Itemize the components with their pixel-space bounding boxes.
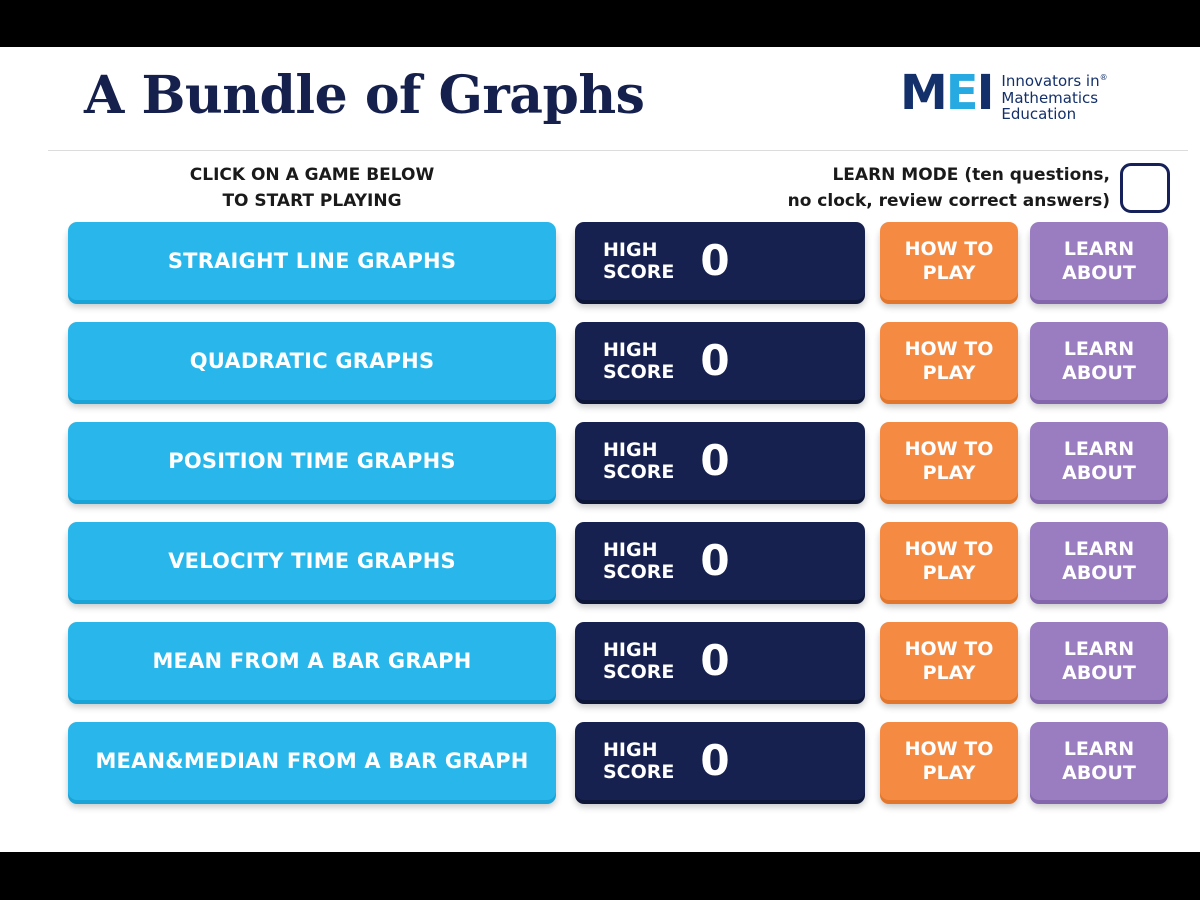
mei-logo-mark: M E I xyxy=(900,69,992,117)
high-score-label-line-1: HIGH xyxy=(603,639,674,661)
page-title: A Bundle of Graphs xyxy=(84,65,644,126)
high-score-label: HIGH SCORE xyxy=(603,239,674,283)
high-score-value: 0 xyxy=(700,340,729,382)
high-score-label-line-1: HIGH xyxy=(603,439,674,461)
game-row: QUADRATIC GRAPHS HIGH SCORE 0 HOW TO PLA… xyxy=(0,315,1200,415)
how-to-play-button[interactable]: HOW TO PLAY xyxy=(880,222,1018,300)
high-score-label-line-2: SCORE xyxy=(603,761,674,783)
mei-logo: M E I Innovators in® Mathematics Educati… xyxy=(900,69,1108,123)
learn-about-button[interactable]: LEARN ABOUT xyxy=(1030,322,1168,400)
high-score-label: HIGH SCORE xyxy=(603,739,674,783)
click-instruction: CLICK ON A GAME BELOW TO START PLAYING xyxy=(68,162,556,214)
learn-mode-description: LEARN MODE (ten questions, no clock, rev… xyxy=(660,162,1110,214)
learn-about-button[interactable]: LEARN ABOUT xyxy=(1030,422,1168,500)
how-to-play-label: HOW TO PLAY xyxy=(905,237,994,285)
logo-tagline-line-1: Innovators in® xyxy=(1001,70,1107,90)
mei-logo-tagline: Innovators in® Mathematics Education xyxy=(1001,70,1107,123)
click-instruction-line-1: CLICK ON A GAME BELOW xyxy=(68,162,556,188)
high-score-label-line-1: HIGH xyxy=(603,539,674,561)
learn-mode-line-2: no clock, review correct answers) xyxy=(660,188,1110,214)
header-divider xyxy=(48,150,1188,151)
logo-tagline-line-2: Mathematics xyxy=(1001,90,1107,107)
learn-mode-checkbox[interactable] xyxy=(1120,163,1170,213)
learn-mode-line-1: LEARN MODE (ten questions, xyxy=(660,162,1110,188)
how-to-play-label: HOW TO PLAY xyxy=(905,537,994,585)
letterbox-bar-bottom xyxy=(0,852,1200,900)
letterbox-bar-top xyxy=(0,0,1200,47)
high-score-panel: HIGH SCORE 0 xyxy=(575,322,865,400)
game-row: VELOCITY TIME GRAPHS HIGH SCORE 0 HOW TO… xyxy=(0,515,1200,615)
instructions: CLICK ON A GAME BELOW TO START PLAYING L… xyxy=(0,162,1200,220)
game-button-mean-from-a-bar-graph[interactable]: MEAN FROM A BAR GRAPH xyxy=(68,622,556,700)
learn-about-button[interactable]: LEARN ABOUT xyxy=(1030,522,1168,600)
high-score-label: HIGH SCORE xyxy=(603,439,674,483)
game-list: STRAIGHT LINE GRAPHS HIGH SCORE 0 HOW TO… xyxy=(0,215,1200,815)
how-to-play-label: HOW TO PLAY xyxy=(905,637,994,685)
game-button-label: MEAN FROM A BAR GRAPH xyxy=(152,649,471,673)
high-score-label-line-2: SCORE xyxy=(603,661,674,683)
game-row: MEAN FROM A BAR GRAPH HIGH SCORE 0 HOW T… xyxy=(0,615,1200,715)
high-score-label-line-2: SCORE xyxy=(603,561,674,583)
how-to-play-label: HOW TO PLAY xyxy=(905,337,994,385)
game-button-straight-line-graphs[interactable]: STRAIGHT LINE GRAPHS xyxy=(68,222,556,300)
click-instruction-line-2: TO START PLAYING xyxy=(68,188,556,214)
header: A Bundle of Graphs M E I Innovators in® … xyxy=(0,47,1200,151)
high-score-value: 0 xyxy=(700,240,729,282)
learn-about-button[interactable]: LEARN ABOUT xyxy=(1030,722,1168,800)
game-button-quadratic-graphs[interactable]: QUADRATIC GRAPHS xyxy=(68,322,556,400)
high-score-label-line-2: SCORE xyxy=(603,361,674,383)
app-root: A Bundle of Graphs M E I Innovators in® … xyxy=(0,0,1200,900)
high-score-label-line-1: HIGH xyxy=(603,739,674,761)
how-to-play-button[interactable]: HOW TO PLAY xyxy=(880,522,1018,600)
learn-about-label: LEARN ABOUT xyxy=(1062,637,1136,685)
registered-mark: ® xyxy=(1100,73,1108,82)
how-to-play-label: HOW TO PLAY xyxy=(905,437,994,485)
high-score-label-line-1: HIGH xyxy=(603,239,674,261)
high-score-panel: HIGH SCORE 0 xyxy=(575,722,865,800)
game-button-label: POSITION TIME GRAPHS xyxy=(168,449,456,473)
game-button-velocity-time-graphs[interactable]: VELOCITY TIME GRAPHS xyxy=(68,522,556,600)
learn-about-label: LEARN ABOUT xyxy=(1062,337,1136,385)
high-score-value: 0 xyxy=(700,640,729,682)
high-score-panel: HIGH SCORE 0 xyxy=(575,422,865,500)
logo-letter-i: I xyxy=(977,69,993,117)
game-button-position-time-graphs[interactable]: POSITION TIME GRAPHS xyxy=(68,422,556,500)
how-to-play-label: HOW TO PLAY xyxy=(905,737,994,785)
game-button-label: QUADRATIC GRAPHS xyxy=(190,349,435,373)
game-row: MEAN&MEDIAN FROM A BAR GRAPH HIGH SCORE … xyxy=(0,715,1200,815)
high-score-value: 0 xyxy=(700,440,729,482)
learn-about-button[interactable]: LEARN ABOUT xyxy=(1030,222,1168,300)
game-row: STRAIGHT LINE GRAPHS HIGH SCORE 0 HOW TO… xyxy=(0,215,1200,315)
game-row: POSITION TIME GRAPHS HIGH SCORE 0 HOW TO… xyxy=(0,415,1200,515)
high-score-label-line-2: SCORE xyxy=(603,261,674,283)
high-score-value: 0 xyxy=(700,540,729,582)
how-to-play-button[interactable]: HOW TO PLAY xyxy=(880,422,1018,500)
how-to-play-button[interactable]: HOW TO PLAY xyxy=(880,622,1018,700)
high-score-label: HIGH SCORE xyxy=(603,339,674,383)
learn-about-label: LEARN ABOUT xyxy=(1062,537,1136,585)
high-score-panel: HIGH SCORE 0 xyxy=(575,622,865,700)
learn-about-label: LEARN ABOUT xyxy=(1062,237,1136,285)
high-score-label: HIGH SCORE xyxy=(603,639,674,683)
high-score-label: HIGH SCORE xyxy=(603,539,674,583)
game-button-label: VELOCITY TIME GRAPHS xyxy=(168,549,456,573)
high-score-panel: HIGH SCORE 0 xyxy=(575,222,865,300)
learn-about-label: LEARN ABOUT xyxy=(1062,437,1136,485)
logo-tagline-line-3: Education xyxy=(1001,106,1107,123)
high-score-panel: HIGH SCORE 0 xyxy=(575,522,865,600)
slide-stage: A Bundle of Graphs M E I Innovators in® … xyxy=(0,47,1200,852)
game-button-mean-and-median-from-a-bar-graph[interactable]: MEAN&MEDIAN FROM A BAR GRAPH xyxy=(68,722,556,800)
game-button-label: STRAIGHT LINE GRAPHS xyxy=(168,249,456,273)
how-to-play-button[interactable]: HOW TO PLAY xyxy=(880,322,1018,400)
high-score-value: 0 xyxy=(700,740,729,782)
logo-letter-m: M xyxy=(900,69,946,117)
learn-about-label: LEARN ABOUT xyxy=(1062,737,1136,785)
how-to-play-button[interactable]: HOW TO PLAY xyxy=(880,722,1018,800)
logo-letter-e: E xyxy=(946,69,977,117)
high-score-label-line-2: SCORE xyxy=(603,461,674,483)
high-score-label-line-1: HIGH xyxy=(603,339,674,361)
learn-about-button[interactable]: LEARN ABOUT xyxy=(1030,622,1168,700)
game-button-label: MEAN&MEDIAN FROM A BAR GRAPH xyxy=(95,749,528,773)
